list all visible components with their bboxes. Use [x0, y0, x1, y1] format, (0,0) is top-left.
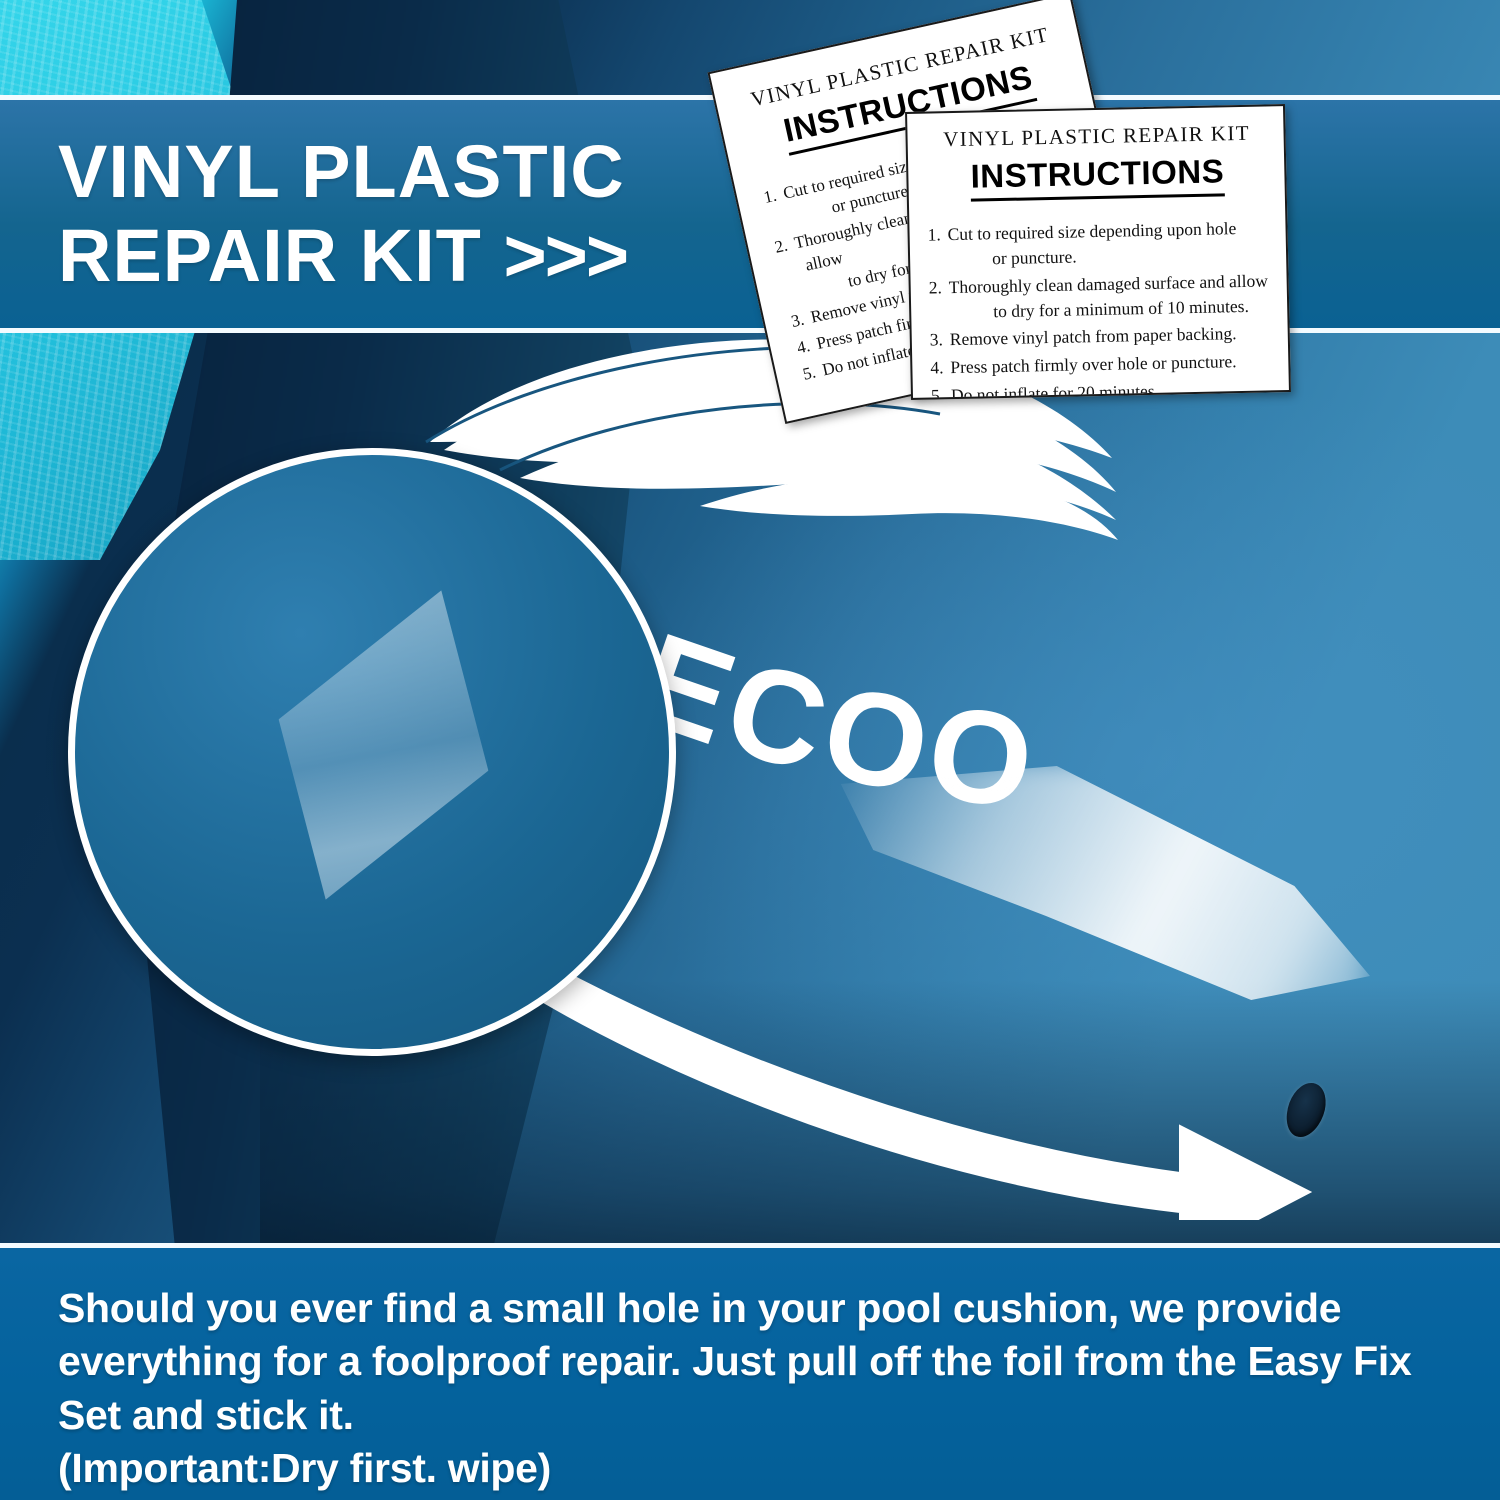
- instruction-card-front: VINYL PLASTIC REPAIR KIT INSTRUCTIONS 1.…: [905, 104, 1291, 400]
- curved-arrow-icon: [520, 930, 1340, 1220]
- caption-band: Should you ever find a small hole in you…: [0, 1243, 1500, 1500]
- vinyl-patch-diamond: [228, 554, 539, 936]
- caption-paragraph-1: Should you ever find a small hole in you…: [58, 1282, 1454, 1442]
- magnifier-callout-circle: [68, 448, 676, 1056]
- product-marketing-image: BERECOO VINYL PLASTIC REPAIR KIT INSTRUC…: [0, 0, 1500, 1500]
- caption-paragraph-2: (Important:Dry first. wipe): [58, 1442, 1454, 1495]
- headline-line-2-text: REPAIR KIT: [58, 214, 482, 297]
- card-front-steps: 1.Cut to required size depending upon ho…: [927, 215, 1273, 400]
- list-item: 4.Press patch firmly over hole or punctu…: [930, 349, 1272, 381]
- chevrons-icon: >>>: [503, 214, 627, 297]
- card-front-heading: INSTRUCTIONS: [970, 152, 1224, 201]
- list-item: 1.Cut to required size depending upon ho…: [927, 215, 1270, 272]
- list-item: 3.Remove vinyl patch from paper backing.: [930, 321, 1272, 353]
- list-item: 2.Thoroughly clean damaged surface and a…: [928, 268, 1271, 325]
